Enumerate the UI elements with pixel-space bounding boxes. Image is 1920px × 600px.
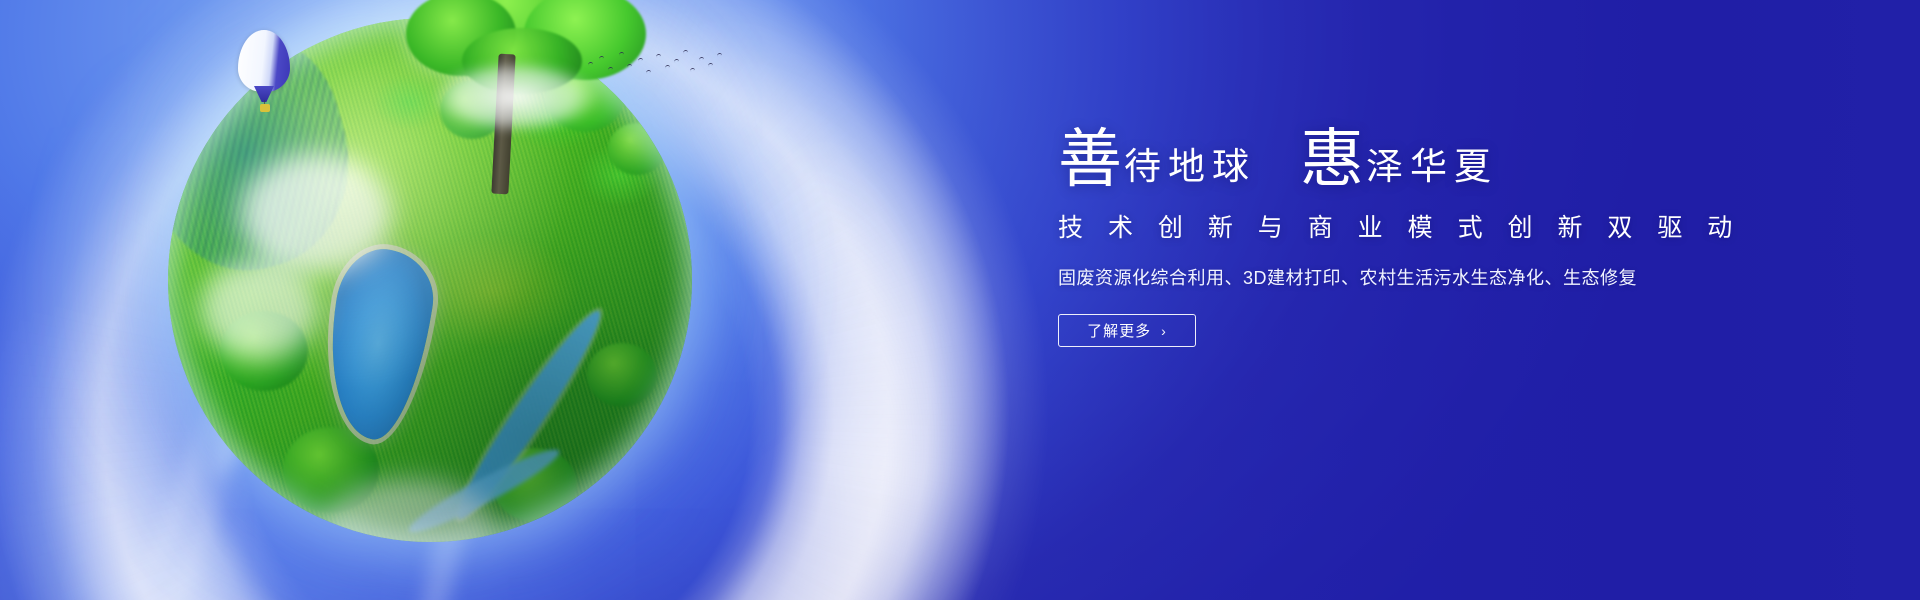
cloud-puff-icon (420, 56, 610, 138)
learn-more-label: 了解更多 (1087, 320, 1151, 341)
hero-subtitle: 技 术 创 新 与 商 业 模 式 创 新 双 驱 动 (1058, 208, 1758, 244)
hero-description: 固废资源化综合利用、3D建材打印、农村生活污水生态净化、生态修复 (1058, 264, 1758, 290)
headline-part2-big: 惠 (1300, 124, 1366, 195)
hot-air-balloon-icon (238, 30, 290, 116)
headline-part2-small: 泽华夏 (1366, 147, 1498, 188)
learn-more-button[interactable]: 了解更多 › (1058, 314, 1196, 347)
hero-copy: 善待地球惠泽华夏 技 术 创 新 与 商 业 模 式 创 新 双 驱 动 固废资… (1058, 128, 1758, 347)
bird-flock-icon (586, 48, 726, 94)
hero-banner: 善待地球惠泽华夏 技 术 创 新 与 商 业 模 式 创 新 双 驱 动 固废资… (0, 0, 1920, 600)
balloon-basket (260, 104, 270, 112)
headline-part1-small: 待地球 (1124, 147, 1256, 188)
page-title: 善待地球惠泽华夏 (1058, 128, 1758, 192)
headline-part1-big: 善 (1058, 124, 1124, 195)
chevron-right-icon: › (1161, 324, 1167, 338)
balloon-envelope (238, 30, 290, 92)
